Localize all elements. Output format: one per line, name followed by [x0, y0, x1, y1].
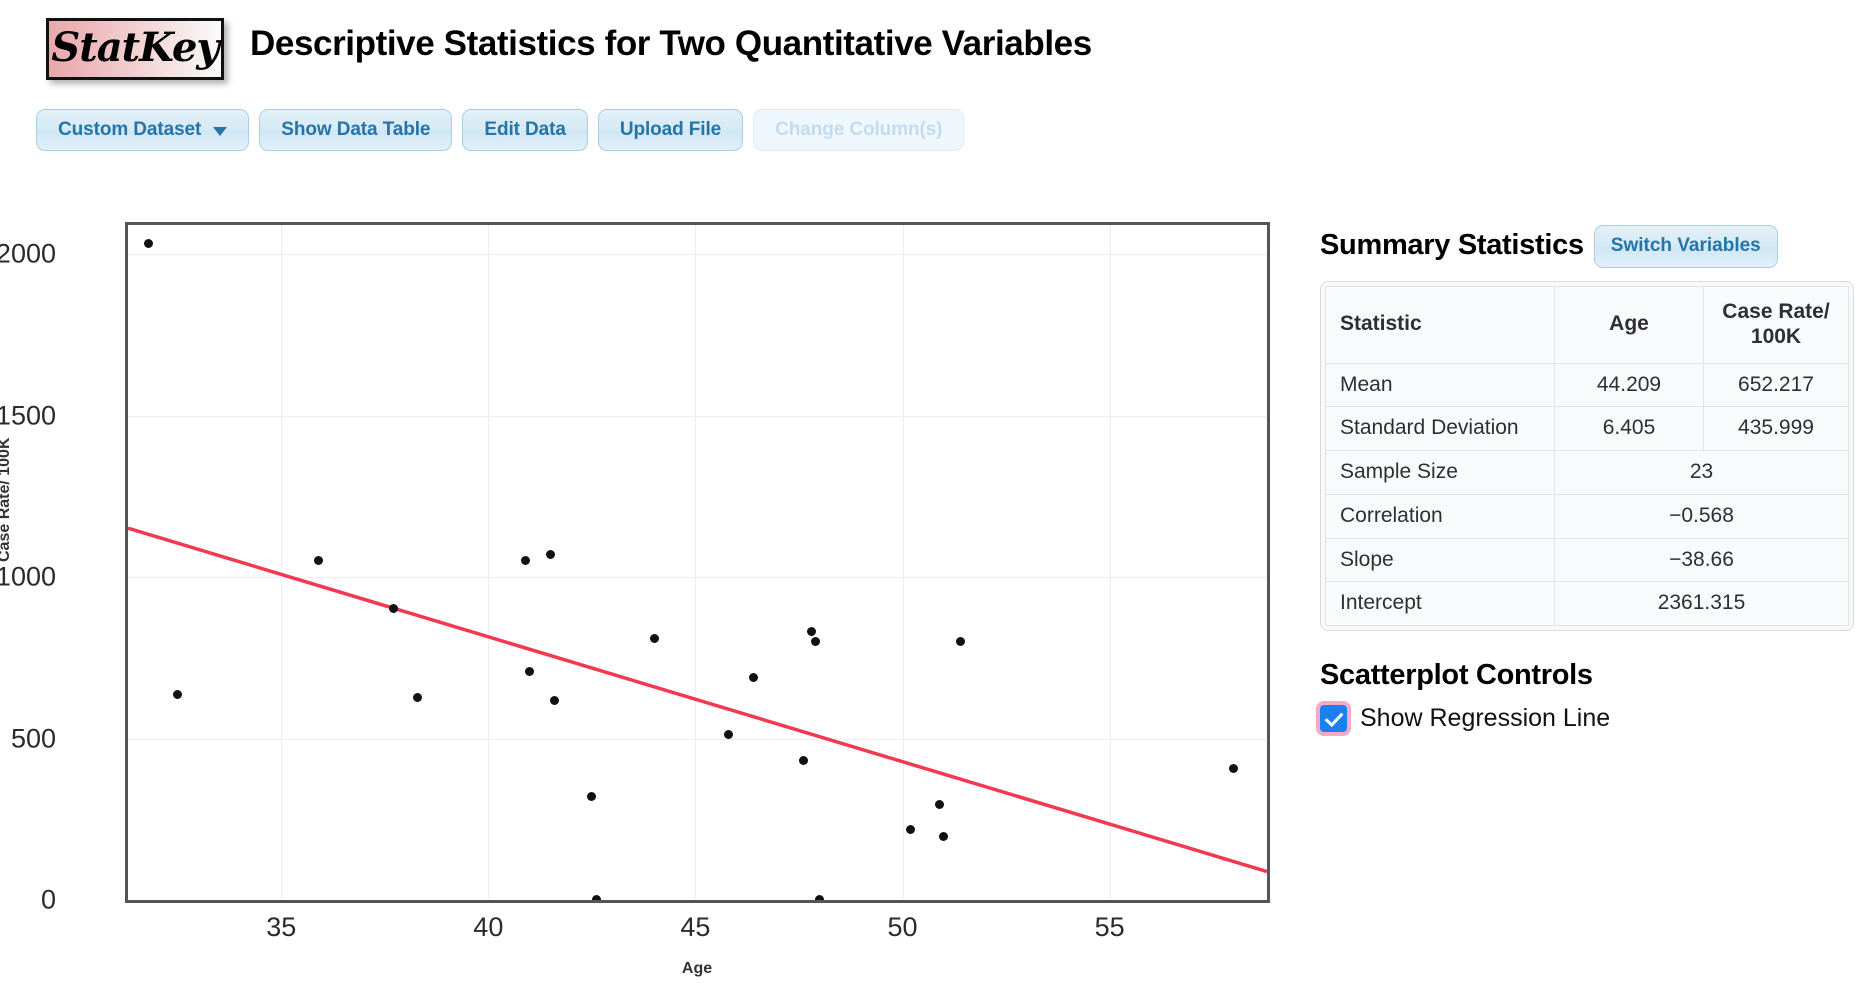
statkey-logo: StatKey [46, 18, 224, 80]
cell-statistic: Correlation [1326, 494, 1555, 538]
cell-statistic: Slope [1326, 538, 1555, 582]
y-axis-tick-label: 2000 [0, 239, 56, 270]
toolbar-button-upload-file[interactable]: Upload File [598, 109, 743, 151]
plot-area [125, 222, 1270, 903]
table-row: Mean44.209652.217 [1326, 363, 1849, 407]
app-header: StatKey Descriptive Statistics for Two Q… [0, 0, 1874, 100]
gridline-vertical [281, 225, 282, 900]
toolbar-button-label: Change Column(s) [775, 119, 942, 141]
summary-statistics-header: Summary Statistics Switch Variables [1320, 222, 1874, 268]
cell-value: −38.66 [1555, 538, 1849, 582]
cell-value: 2361.315 [1555, 582, 1849, 626]
cell-case-rate: 435.999 [1704, 407, 1849, 451]
gridline-vertical [903, 225, 904, 900]
cell-case-rate: 652.217 [1704, 363, 1849, 407]
col-header-statistic: Statistic [1326, 287, 1555, 364]
cell-statistic: Standard Deviation [1326, 407, 1555, 451]
toolbar-button-label: Upload File [620, 119, 721, 141]
table-row: Standard Deviation6.405435.999 [1326, 407, 1849, 451]
scatter-point [799, 756, 808, 765]
show-regression-checkbox[interactable] [1320, 705, 1347, 732]
scatter-point [413, 693, 422, 702]
cell-statistic: Intercept [1326, 582, 1555, 626]
scatter-point [650, 634, 659, 643]
gridline-vertical [1110, 225, 1111, 900]
summary-statistics-card: Statistic Age Case Rate/ 100K Mean44.209… [1320, 281, 1854, 631]
scatter-point [550, 696, 559, 705]
cell-value: 23 [1555, 451, 1849, 495]
table-row: Sample Size23 [1326, 451, 1849, 495]
y-axis-tick-label: 1500 [0, 400, 56, 431]
show-regression-control[interactable]: Show Regression Line [1320, 704, 1874, 733]
scatter-point [592, 895, 601, 903]
toolbar-button-custom-dataset[interactable]: Custom Dataset [36, 109, 249, 151]
scatter-point [525, 667, 534, 676]
gridline-vertical [488, 225, 489, 900]
scatter-point [807, 627, 816, 636]
col-header-age: Age [1555, 287, 1704, 364]
regression-line [128, 225, 1267, 900]
x-axis-tick-label: 55 [1095, 912, 1125, 943]
toolbar-button-show-data-table[interactable]: Show Data Table [259, 109, 452, 151]
toolbar-button-label: Show Data Table [281, 119, 430, 141]
summary-statistics-title: Summary Statistics [1320, 229, 1584, 262]
y-axis-tick-label: 0 [41, 885, 56, 916]
table-row: Correlation−0.568 [1326, 494, 1849, 538]
scatter-point [956, 637, 965, 646]
cell-age: 6.405 [1555, 407, 1704, 451]
toolbar-button-label: Custom Dataset [58, 119, 201, 141]
scatter-point [314, 556, 323, 565]
scatter-point [546, 550, 555, 559]
scatter-point [906, 825, 915, 834]
gridline-vertical [695, 225, 696, 900]
x-axis-tick-label: 35 [266, 912, 296, 943]
toolbar-button-label: Edit Data [484, 119, 565, 141]
x-axis-tick-label: 40 [473, 912, 503, 943]
y-axis-tick-label: 1000 [0, 562, 56, 593]
y-axis-tick-label: 500 [11, 723, 56, 754]
table-row: Slope−38.66 [1326, 538, 1849, 582]
scatter-point [144, 239, 153, 248]
summary-statistics-table: Statistic Age Case Rate/ 100K Mean44.209… [1325, 286, 1849, 626]
scatter-point [587, 792, 596, 801]
gridline-horizontal [128, 254, 1267, 255]
scatter-point [389, 604, 398, 613]
toolbar: Custom DatasetShow Data TableEdit DataUp… [36, 109, 964, 151]
statkey-logo-text: StatKey [51, 28, 218, 71]
table-header-row: Statistic Age Case Rate/ 100K [1326, 287, 1849, 364]
cell-statistic: Mean [1326, 363, 1555, 407]
scatter-point [173, 690, 182, 699]
col-header-case-rate: Case Rate/ 100K [1704, 287, 1849, 364]
gridline-horizontal [128, 416, 1267, 417]
cell-age: 44.209 [1555, 363, 1704, 407]
x-axis-tick-label: 50 [887, 912, 917, 943]
table-row: Intercept2361.315 [1326, 582, 1849, 626]
cell-value: −0.568 [1555, 494, 1849, 538]
scatterplot-panel: 0500100015002000 Case Rate/ 100K 3540455… [0, 170, 1320, 994]
table-head: Statistic Age Case Rate/ 100K [1326, 287, 1849, 364]
gridline-horizontal [128, 577, 1267, 578]
gridline-horizontal [128, 900, 1267, 901]
toolbar-button-change-column-s: Change Column(s) [753, 109, 964, 151]
table-body: Mean44.209652.217Standard Deviation6.405… [1326, 363, 1849, 626]
scatter-point [1229, 764, 1238, 773]
scatter-point [521, 556, 530, 565]
cell-statistic: Sample Size [1326, 451, 1555, 495]
scatter-point [811, 637, 820, 646]
x-axis-tick-label: 45 [680, 912, 710, 943]
switch-variables-button[interactable]: Switch Variables [1594, 225, 1778, 268]
gridline-horizontal [128, 739, 1267, 740]
scatter-point [935, 800, 944, 809]
scatter-point [939, 832, 948, 841]
chevron-down-icon [213, 127, 227, 136]
toolbar-button-edit-data[interactable]: Edit Data [462, 109, 587, 151]
page-title: Descriptive Statistics for Two Quantitat… [250, 24, 1092, 64]
x-axis-label: Age [682, 960, 712, 978]
scatterplot-controls-title: Scatterplot Controls [1320, 659, 1874, 692]
scatter-point [749, 673, 758, 682]
y-axis-label: Case Rate/ 100K [0, 437, 14, 562]
right-panel: Summary Statistics Switch Variables Stat… [1320, 222, 1874, 733]
show-regression-label: Show Regression Line [1360, 704, 1610, 733]
scatter-point [815, 895, 824, 903]
